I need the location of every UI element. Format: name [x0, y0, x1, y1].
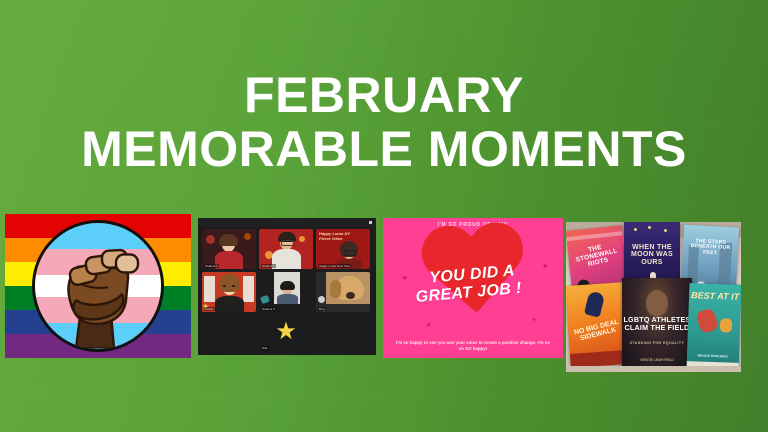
call-window-titlebar	[198, 218, 376, 227]
participant-tile[interactable]: Student 1	[202, 229, 256, 269]
participant-tile[interactable]: ★ Avatar	[202, 272, 256, 312]
book-cover: NO BIG DEAL SIDEWALK	[566, 282, 629, 368]
participant-label: Happy Lunar New Year	[318, 264, 351, 268]
participant-tile[interactable]: Happy Lunar NYFierce Vibes Happy Lunar N…	[316, 229, 370, 269]
sparkle-icon: ✦	[531, 317, 537, 324]
card-bottom-text: I'm so happy to see you use your voice t…	[395, 340, 551, 353]
presentation-slide: FEBRUARY MEMORABLE MOMENTS	[0, 0, 768, 432]
participant-tile[interactable]: Student 5	[259, 272, 313, 312]
participant-tile[interactable]: Dog	[316, 272, 370, 312]
sparkle-icon: ✦	[425, 321, 433, 330]
photo-book-display[interactable]: THE STONEWALL RIOTS WHEN THE MOON WAS OU…	[566, 222, 741, 372]
book-cover: LGBTQ ATHLETES CLAIM THE FIELD STANDING …	[622, 278, 692, 370]
book-title: THE STARS BENEATH OUR FEET	[682, 239, 738, 258]
participant-label: Student 1	[204, 264, 219, 268]
photo-pride-fist[interactable]	[5, 214, 191, 358]
participant-tile[interactable]: ★ Star	[259, 315, 313, 351]
participant-label: Dog	[318, 307, 326, 311]
participant-grid: Student 1 Student 2 Happy Lunar NYFierce…	[202, 229, 372, 351]
book-title: BEST AT IT	[689, 291, 741, 302]
participant-label: Avatar	[204, 307, 215, 311]
star-avatar-icon: ★	[275, 320, 297, 344]
book-title: WHEN THE MOON WAS OURS	[624, 244, 680, 266]
participant-tile[interactable]: Student 2	[259, 229, 313, 269]
book-cover: BEST AT IT MAULIK PANCHOLY	[687, 283, 741, 371]
participant-label: Star	[261, 346, 269, 350]
participant-label: Student 2	[261, 264, 276, 268]
photo-great-job-card[interactable]: I'M SO PROUD OF YOU! ✦ ✦ ✦ ✦ YOU DID A G…	[383, 218, 563, 358]
book-title: LGBTQ ATHLETES CLAIM THE FIELD	[622, 316, 692, 331]
raised-fist-icon	[46, 228, 150, 348]
trans-flag-circle	[32, 220, 164, 352]
photo-video-call[interactable]: Student 1 Student 2 Happy Lunar NYFierce…	[198, 218, 376, 355]
card-main-text: YOU DID A GREAT JOB !	[383, 258, 563, 310]
participant-label: Student 5	[261, 307, 276, 311]
call-close-icon[interactable]	[369, 221, 372, 224]
